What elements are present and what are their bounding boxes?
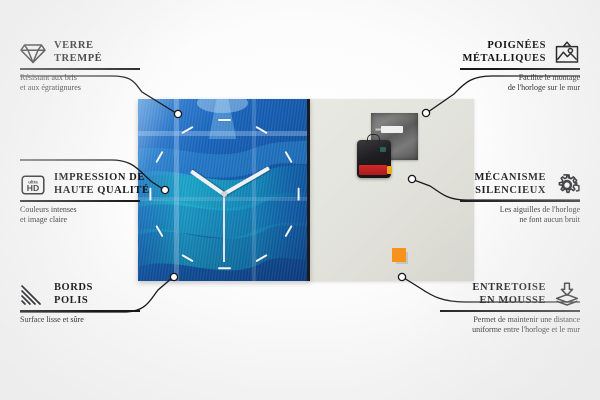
feature-header: ultra HD IMPRESSION DE HAUTE QUALITÉ [20, 172, 140, 197]
desc-line-2: et aux égratignures [20, 83, 140, 93]
title-line-1: IMPRESSION DE [54, 172, 150, 185]
mechanism-label [380, 147, 386, 152]
title-line-1: VERRE [54, 40, 102, 53]
feature-description: Permet de maintenir une distance uniform… [440, 315, 580, 335]
feature-title: ENTRETOISE EN MOUSSE [472, 282, 546, 307]
desc-line-1: Couleurs intenses [20, 205, 140, 215]
feature-title: BORDS POLIS [54, 282, 93, 307]
feature-verre-trempe[interactable]: VERRE TREMPÉ Résistant aux bris et aux é… [20, 40, 140, 93]
divider [20, 200, 140, 202]
desc-line-2: ne font aucun bruit [460, 215, 580, 225]
feature-header: VERRE TREMPÉ [20, 40, 140, 65]
desc-line-1: Résistant aux bris [20, 73, 140, 83]
feature-description: Couleurs intenses et image claire [20, 205, 140, 225]
feature-header: MÉCANISME SILENCIEUX [460, 172, 580, 197]
title-line-2: TREMPÉ [54, 53, 102, 66]
desc-line-1: Les aiguilles de l'horloge [460, 205, 580, 215]
feature-title: POIGNÉES MÉTALLIQUES [463, 40, 546, 65]
divider [20, 68, 140, 70]
title-line-1: POIGNÉES [463, 40, 546, 53]
divider [20, 310, 140, 312]
title-line-2: EN MOUSSE [472, 295, 546, 308]
diamond-icon [20, 42, 46, 64]
foam-spacer-icon [554, 282, 580, 307]
desc-line-2: de l'horloge sur le mur [460, 83, 580, 93]
feature-description: Facilite le montage de l'horloge sur le … [460, 73, 580, 93]
hour-marker [218, 267, 231, 269]
feature-entretoise-en-mousse[interactable]: ENTRETOISE EN MOUSSE Permet de maintenir… [440, 282, 580, 335]
battery [359, 165, 387, 175]
desc-line-1: Facilite le montage [460, 73, 580, 83]
clock-back-panel [306, 99, 474, 281]
title-line-1: MÉCANISME [475, 172, 546, 185]
polished-edge-icon [20, 284, 46, 306]
hour-marker [218, 119, 231, 121]
svg-text:HD: HD [27, 183, 39, 193]
desc-line-2: uniforme entre l'horloge et le mur [440, 325, 580, 335]
feature-description: Résistant aux bris et aux égratignures [20, 73, 140, 93]
title-line-2: HAUTE QUALITÉ [54, 185, 150, 198]
hands-center-cap [222, 192, 227, 197]
second-hand [223, 194, 224, 262]
feature-impression-haute-qualite[interactable]: ultra HD IMPRESSION DE HAUTE QUALITÉ Cou… [20, 172, 140, 225]
title-line-1: BORDS [54, 282, 93, 295]
feature-poignees-metalliques[interactable]: POIGNÉES MÉTALLIQUES Facilite le montage… [460, 40, 580, 93]
divider [460, 200, 580, 202]
feature-title: IMPRESSION DE HAUTE QUALITÉ [54, 172, 150, 197]
foam-spacer [392, 248, 406, 262]
battery-terminal [387, 166, 392, 174]
desc-line-2: et image claire [20, 215, 140, 225]
desc-line-1: Permet de maintenir une distance [440, 315, 580, 325]
hanging-frame-icon [554, 41, 580, 64]
feature-description: Les aiguilles de l'horloge ne font aucun… [460, 205, 580, 225]
title-line-2: MÉTALLIQUES [463, 53, 546, 66]
feature-mecanisme-silencieux[interactable]: MÉCANISME SILENCIEUX Les aiguilles de l'… [460, 172, 580, 225]
ultra-hd-icon: ultra HD [20, 174, 46, 196]
feature-header: ENTRETOISE EN MOUSSE [440, 282, 580, 307]
feature-title: VERRE TREMPÉ [54, 40, 102, 65]
product-illustration [138, 99, 474, 281]
title-line-1: ENTRETOISE [472, 282, 546, 295]
desc-line-1: Surface lisse et sûre [20, 315, 140, 325]
feature-description: Surface lisse et sûre [20, 315, 140, 325]
hour-marker [297, 187, 299, 200]
feature-header: POIGNÉES MÉTALLIQUES [460, 40, 580, 65]
infographic-canvas: VERRE TREMPÉ Résistant aux bris et aux é… [0, 0, 600, 400]
divider [460, 68, 580, 70]
hanger-slot [381, 126, 403, 133]
gear-icon [554, 173, 580, 197]
title-line-2: SILENCIEUX [475, 185, 546, 198]
feature-bords-polis[interactable]: BORDS POLIS Surface lisse et sûre [20, 282, 140, 325]
mechanism-hook [367, 134, 380, 142]
divider [440, 310, 580, 312]
quartz-mechanism [357, 140, 391, 178]
feature-title: MÉCANISME SILENCIEUX [475, 172, 546, 197]
feature-header: BORDS POLIS [20, 282, 140, 307]
glass-clock-face [138, 99, 310, 281]
title-line-2: POLIS [54, 295, 93, 308]
